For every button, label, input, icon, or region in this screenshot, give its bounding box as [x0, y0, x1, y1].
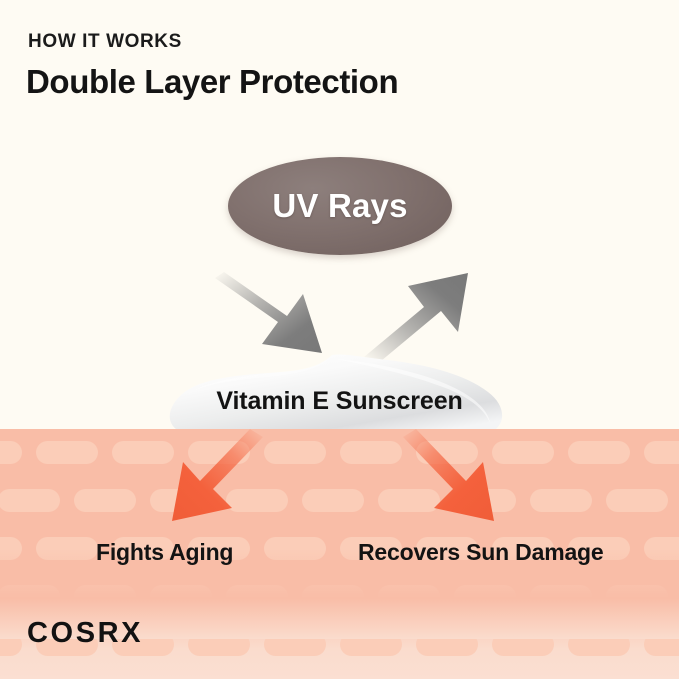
uv-reflected-arrow — [364, 273, 468, 361]
uv-rays-label: UV Rays — [272, 187, 407, 225]
uv-arrows-layer — [0, 0, 679, 679]
sunscreen-barrier-label: Vitamin E Sunscreen — [0, 387, 679, 416]
uv-incoming-arrow — [215, 272, 322, 353]
benefit-arrow-right — [403, 429, 494, 521]
infographic-poster: HOW IT WORKS Double Layer Protection — [0, 0, 679, 679]
benefit-label-fights-aging: Fights Aging — [96, 539, 233, 566]
benefit-label-recovers-sun-damage: Recovers Sun Damage — [358, 539, 603, 566]
brand-logo: COSRX — [27, 617, 143, 650]
benefit-arrow-left — [172, 429, 263, 521]
uv-rays-badge: UV Rays — [228, 157, 452, 255]
